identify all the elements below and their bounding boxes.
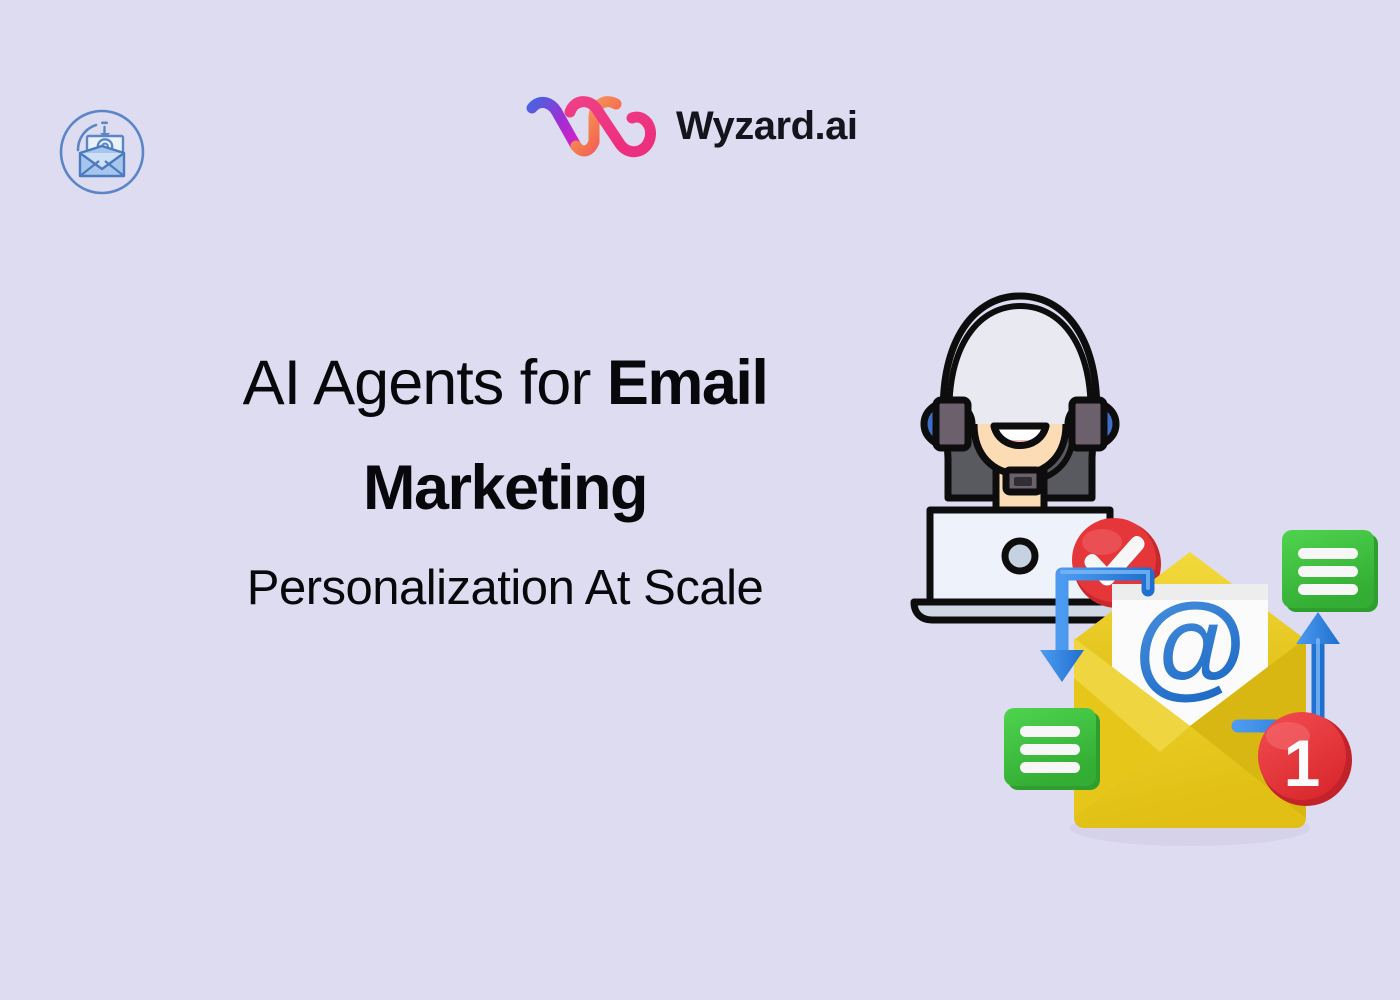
notification-count-text: 1 bbox=[1284, 726, 1321, 800]
headline-block: AI Agents for Email Marketing Personaliz… bbox=[130, 352, 880, 613]
envelope-composition-icon: @ bbox=[1000, 528, 1380, 868]
headline-line-1-bold: Email bbox=[607, 348, 768, 418]
green-list-card-top-icon bbox=[1282, 530, 1378, 612]
wyzard-swoosh-logo-icon bbox=[524, 88, 664, 164]
headline-line-2: Marketing bbox=[130, 457, 880, 520]
illustration: @ bbox=[860, 248, 1380, 868]
brand-logo[interactable]: Wyzard.ai bbox=[524, 88, 858, 164]
headline-subheadline: Personalization At Scale bbox=[130, 564, 880, 613]
svg-text:@: @ bbox=[1133, 579, 1246, 709]
email-circle-badge bbox=[56, 106, 148, 198]
headline-line-1-prefix: AI Agents for bbox=[243, 348, 607, 418]
at-symbol-icon: @ bbox=[1133, 579, 1246, 709]
email-circle-icon bbox=[56, 106, 148, 198]
green-list-card-bottom-icon bbox=[1004, 708, 1100, 790]
headline-line-1: AI Agents for Email bbox=[130, 352, 880, 415]
brand-name: Wyzard.ai bbox=[676, 106, 858, 146]
